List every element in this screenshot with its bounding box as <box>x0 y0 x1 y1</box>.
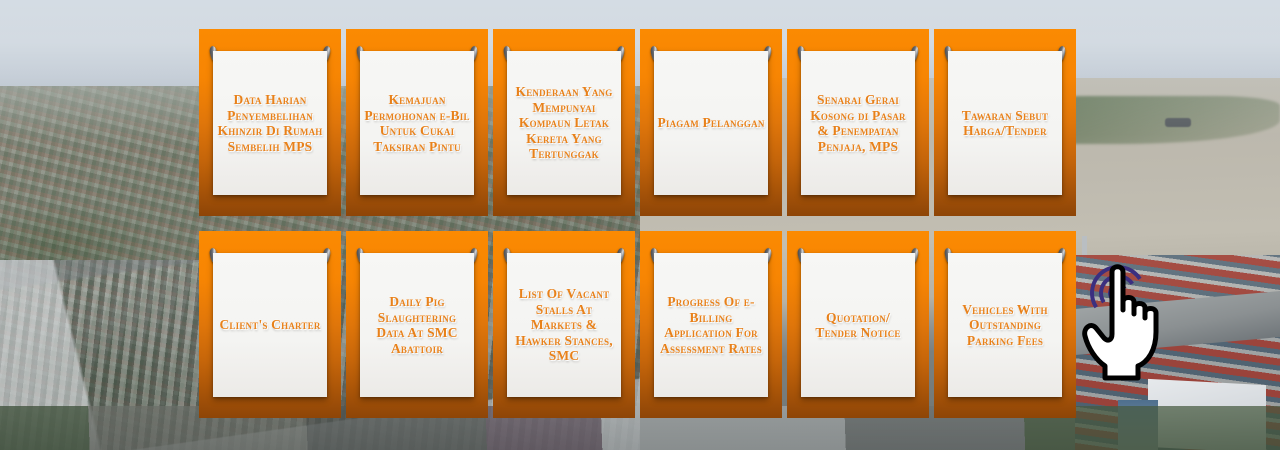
service-card-daily-pig-slaughtering-data[interactable]: Daily Pig Slaughtering Data At SMC Abatt… <box>346 231 488 418</box>
service-card-data-harian-penyembelihan[interactable]: Data Harian Penyembelihan Khinzir Di Rum… <box>199 29 341 216</box>
card-paper: Senarai Gerai Kosong di Pasar & Penempat… <box>801 51 915 195</box>
card-title: Data Harian Penyembelihan Khinzir Di Rum… <box>216 92 324 154</box>
card-title: Quotation/ Tender Notice <box>804 310 912 341</box>
card-title: Vehicles With Outstanding Parking Fees <box>951 302 1059 349</box>
card-title: Senarai Gerai Kosong di Pasar & Penempat… <box>804 92 912 154</box>
background-boat <box>1165 118 1191 127</box>
card-title: Daily Pig Slaughtering Data At SMC Abatt… <box>363 294 471 356</box>
service-card-list-of-vacant-stalls[interactable]: List Of Vacant Stalls At Markets & Hawke… <box>493 231 635 418</box>
card-paper: Piagam Pelanggan <box>654 51 768 195</box>
card-title: List Of Vacant Stalls At Markets & Hawke… <box>510 286 618 364</box>
card-paper: Tawaran Sebut Harga/Tender <box>948 51 1062 195</box>
service-card-progress-of-e-billing[interactable]: Progress Of e-Billing Application For As… <box>640 231 782 418</box>
card-paper: Vehicles With Outstanding Parking Fees <box>948 253 1062 397</box>
card-title: Client's Charter <box>219 317 320 333</box>
card-paper: Kenderaan Yang Mempunyai Kompaun Letak K… <box>507 51 621 195</box>
service-card-senarai-gerai-kosong[interactable]: Senarai Gerai Kosong di Pasar & Penempat… <box>787 29 929 216</box>
card-paper: Data Harian Penyembelihan Khinzir Di Rum… <box>213 51 327 195</box>
service-card-vehicles-outstanding-parking-fees[interactable]: Vehicles With Outstanding Parking Fees <box>934 231 1076 418</box>
service-card-quotation-tender-notice[interactable]: Quotation/ Tender Notice <box>787 231 929 418</box>
service-card-kenderaan-kompaun-letak-kereta[interactable]: Kenderaan Yang Mempunyai Kompaun Letak K… <box>493 29 635 216</box>
service-card-kemajuan-permohonan-e-bil[interactable]: Kemajuan Permohonan e-Bil Untuk Cukai Ta… <box>346 29 488 216</box>
page-stage: Data Harian Penyembelihan Khinzir Di Rum… <box>0 0 1280 450</box>
card-title: Tawaran Sebut Harga/Tender <box>951 108 1059 139</box>
card-title: Kemajuan Permohonan e-Bil Untuk Cukai Ta… <box>363 92 471 154</box>
service-card-grid: Data Harian Penyembelihan Khinzir Di Rum… <box>199 29 1081 418</box>
service-card-clients-charter[interactable]: Client's Charter <box>199 231 341 418</box>
card-paper: Progress Of e-Billing Application For As… <box>654 253 768 397</box>
card-title: Progress Of e-Billing Application For As… <box>657 294 765 356</box>
service-card-tawaran-sebut-harga-tender[interactable]: Tawaran Sebut Harga/Tender <box>934 29 1076 216</box>
card-paper: Client's Charter <box>213 253 327 397</box>
card-paper: Quotation/ Tender Notice <box>801 253 915 397</box>
service-card-piagam-pelanggan[interactable]: Piagam Pelanggan <box>640 29 782 216</box>
card-paper: List Of Vacant Stalls At Markets & Hawke… <box>507 253 621 397</box>
card-paper: Kemajuan Permohonan e-Bil Untuk Cukai Ta… <box>360 51 474 195</box>
card-paper: Daily Pig Slaughtering Data At SMC Abatt… <box>360 253 474 397</box>
card-title: Kenderaan Yang Mempunyai Kompaun Letak K… <box>510 84 618 162</box>
card-title: Piagam Pelanggan <box>657 115 764 131</box>
